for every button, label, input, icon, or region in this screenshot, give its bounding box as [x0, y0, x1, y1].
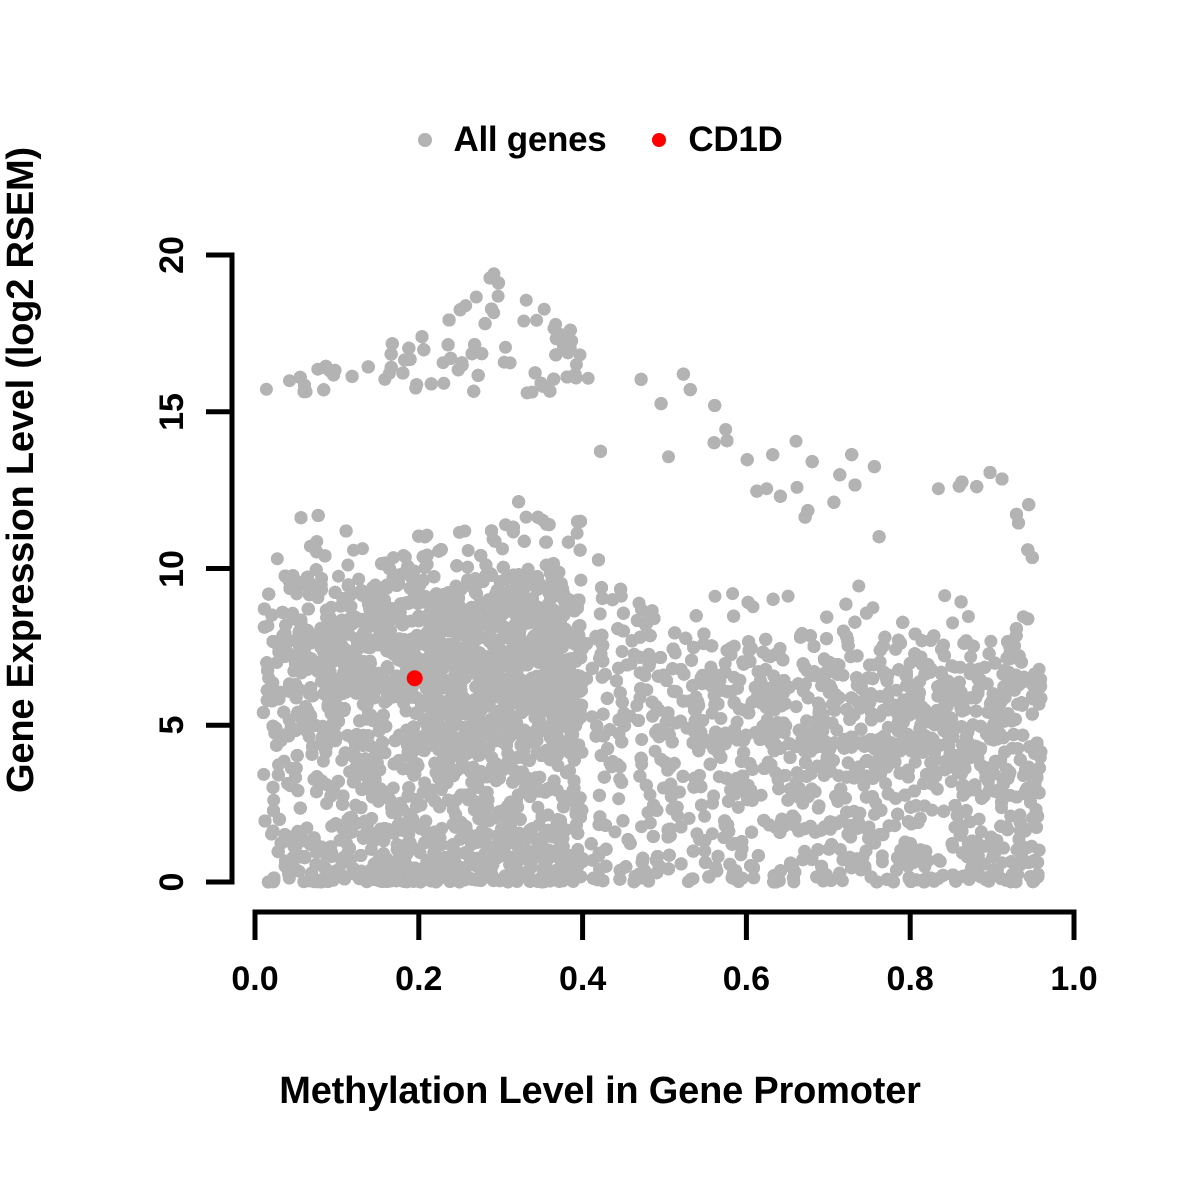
x-tick-label: 0.2 [395, 960, 442, 999]
plot-canvas [0, 0, 1200, 1200]
x-tick-label: 0.4 [559, 960, 606, 999]
y-tick-label: 20 [152, 233, 192, 277]
y-tick-label: 0 [152, 860, 192, 904]
x-tick-label: 0.6 [723, 960, 770, 999]
y-axis-title: Gene Expression Level (log2 RSEM) [0, 0, 60, 1070]
x-axis-title: Methylation Level in Gene Promoter [0, 1070, 1200, 1113]
x-tick-label: 1.0 [1050, 960, 1097, 999]
y-tick-label: 10 [152, 547, 192, 591]
y-tick-label: 15 [152, 390, 192, 434]
y-tick-label: 5 [152, 703, 192, 747]
x-tick-label: 0.8 [887, 960, 934, 999]
scatter-plot-figure: All genes CD1D 0.00.20.40.60.81.00510152… [0, 0, 1200, 1200]
x-tick-label: 0.0 [231, 960, 278, 999]
